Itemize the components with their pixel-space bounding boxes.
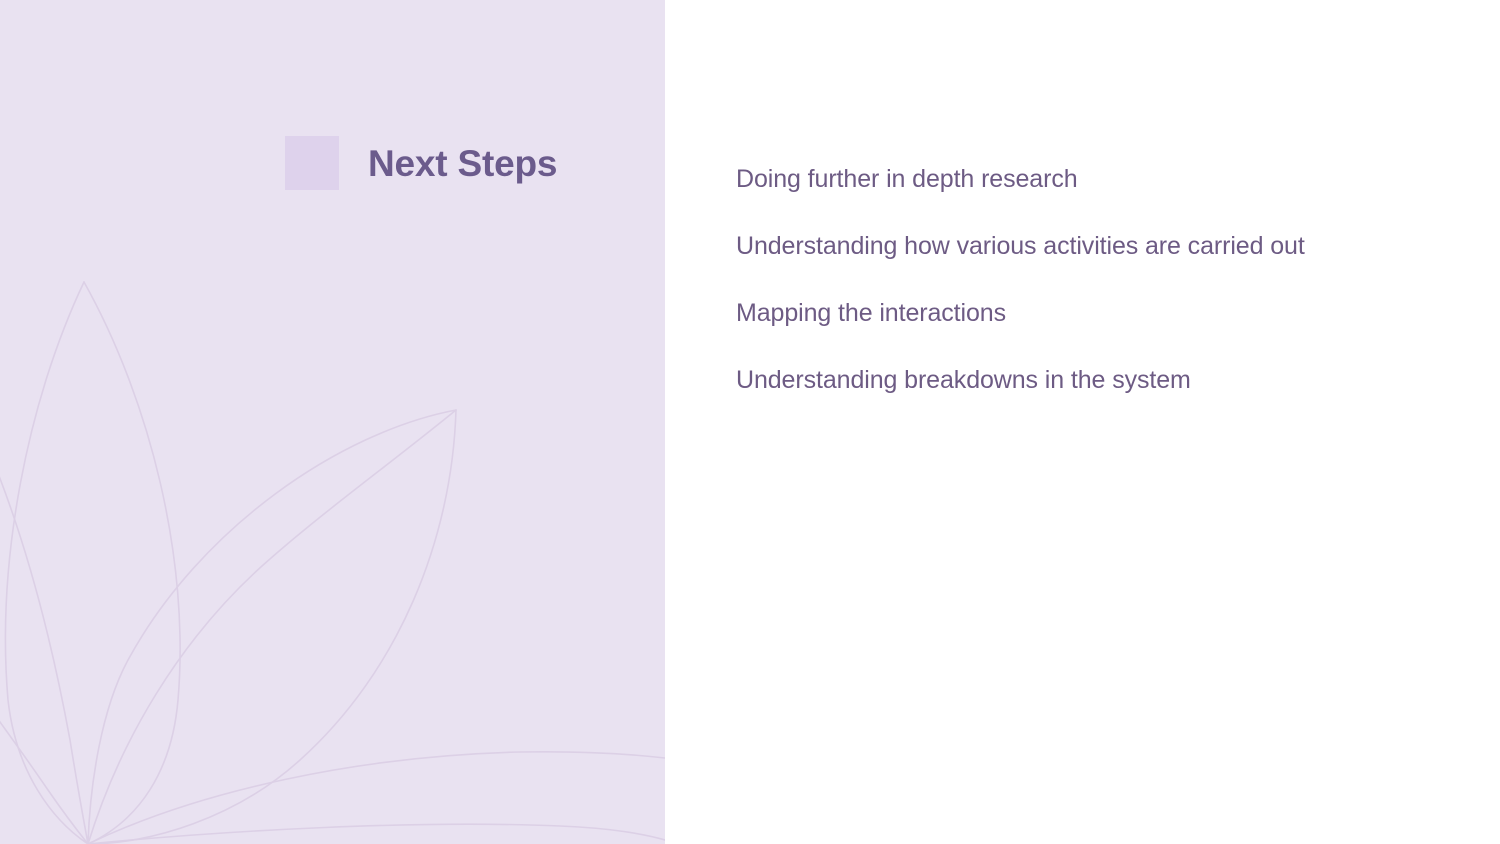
slide-next-steps: Next Steps Doing further in depth resear… bbox=[0, 0, 1500, 844]
content-column: Doing further in depth research Understa… bbox=[736, 146, 1456, 414]
page-title: Next Steps bbox=[368, 145, 557, 182]
list-item: Understanding how various activities are… bbox=[736, 213, 1456, 280]
title-accent-square-icon bbox=[285, 136, 339, 190]
left-decorative-panel: Next Steps bbox=[0, 0, 665, 844]
list-item: Doing further in depth research bbox=[736, 146, 1456, 213]
list-item: Mapping the interactions bbox=[736, 280, 1456, 347]
flower-petal-outline-decoration bbox=[0, 0, 665, 844]
list-item: Understanding breakdowns in the system bbox=[736, 347, 1456, 414]
title-block: Next Steps bbox=[285, 132, 557, 194]
